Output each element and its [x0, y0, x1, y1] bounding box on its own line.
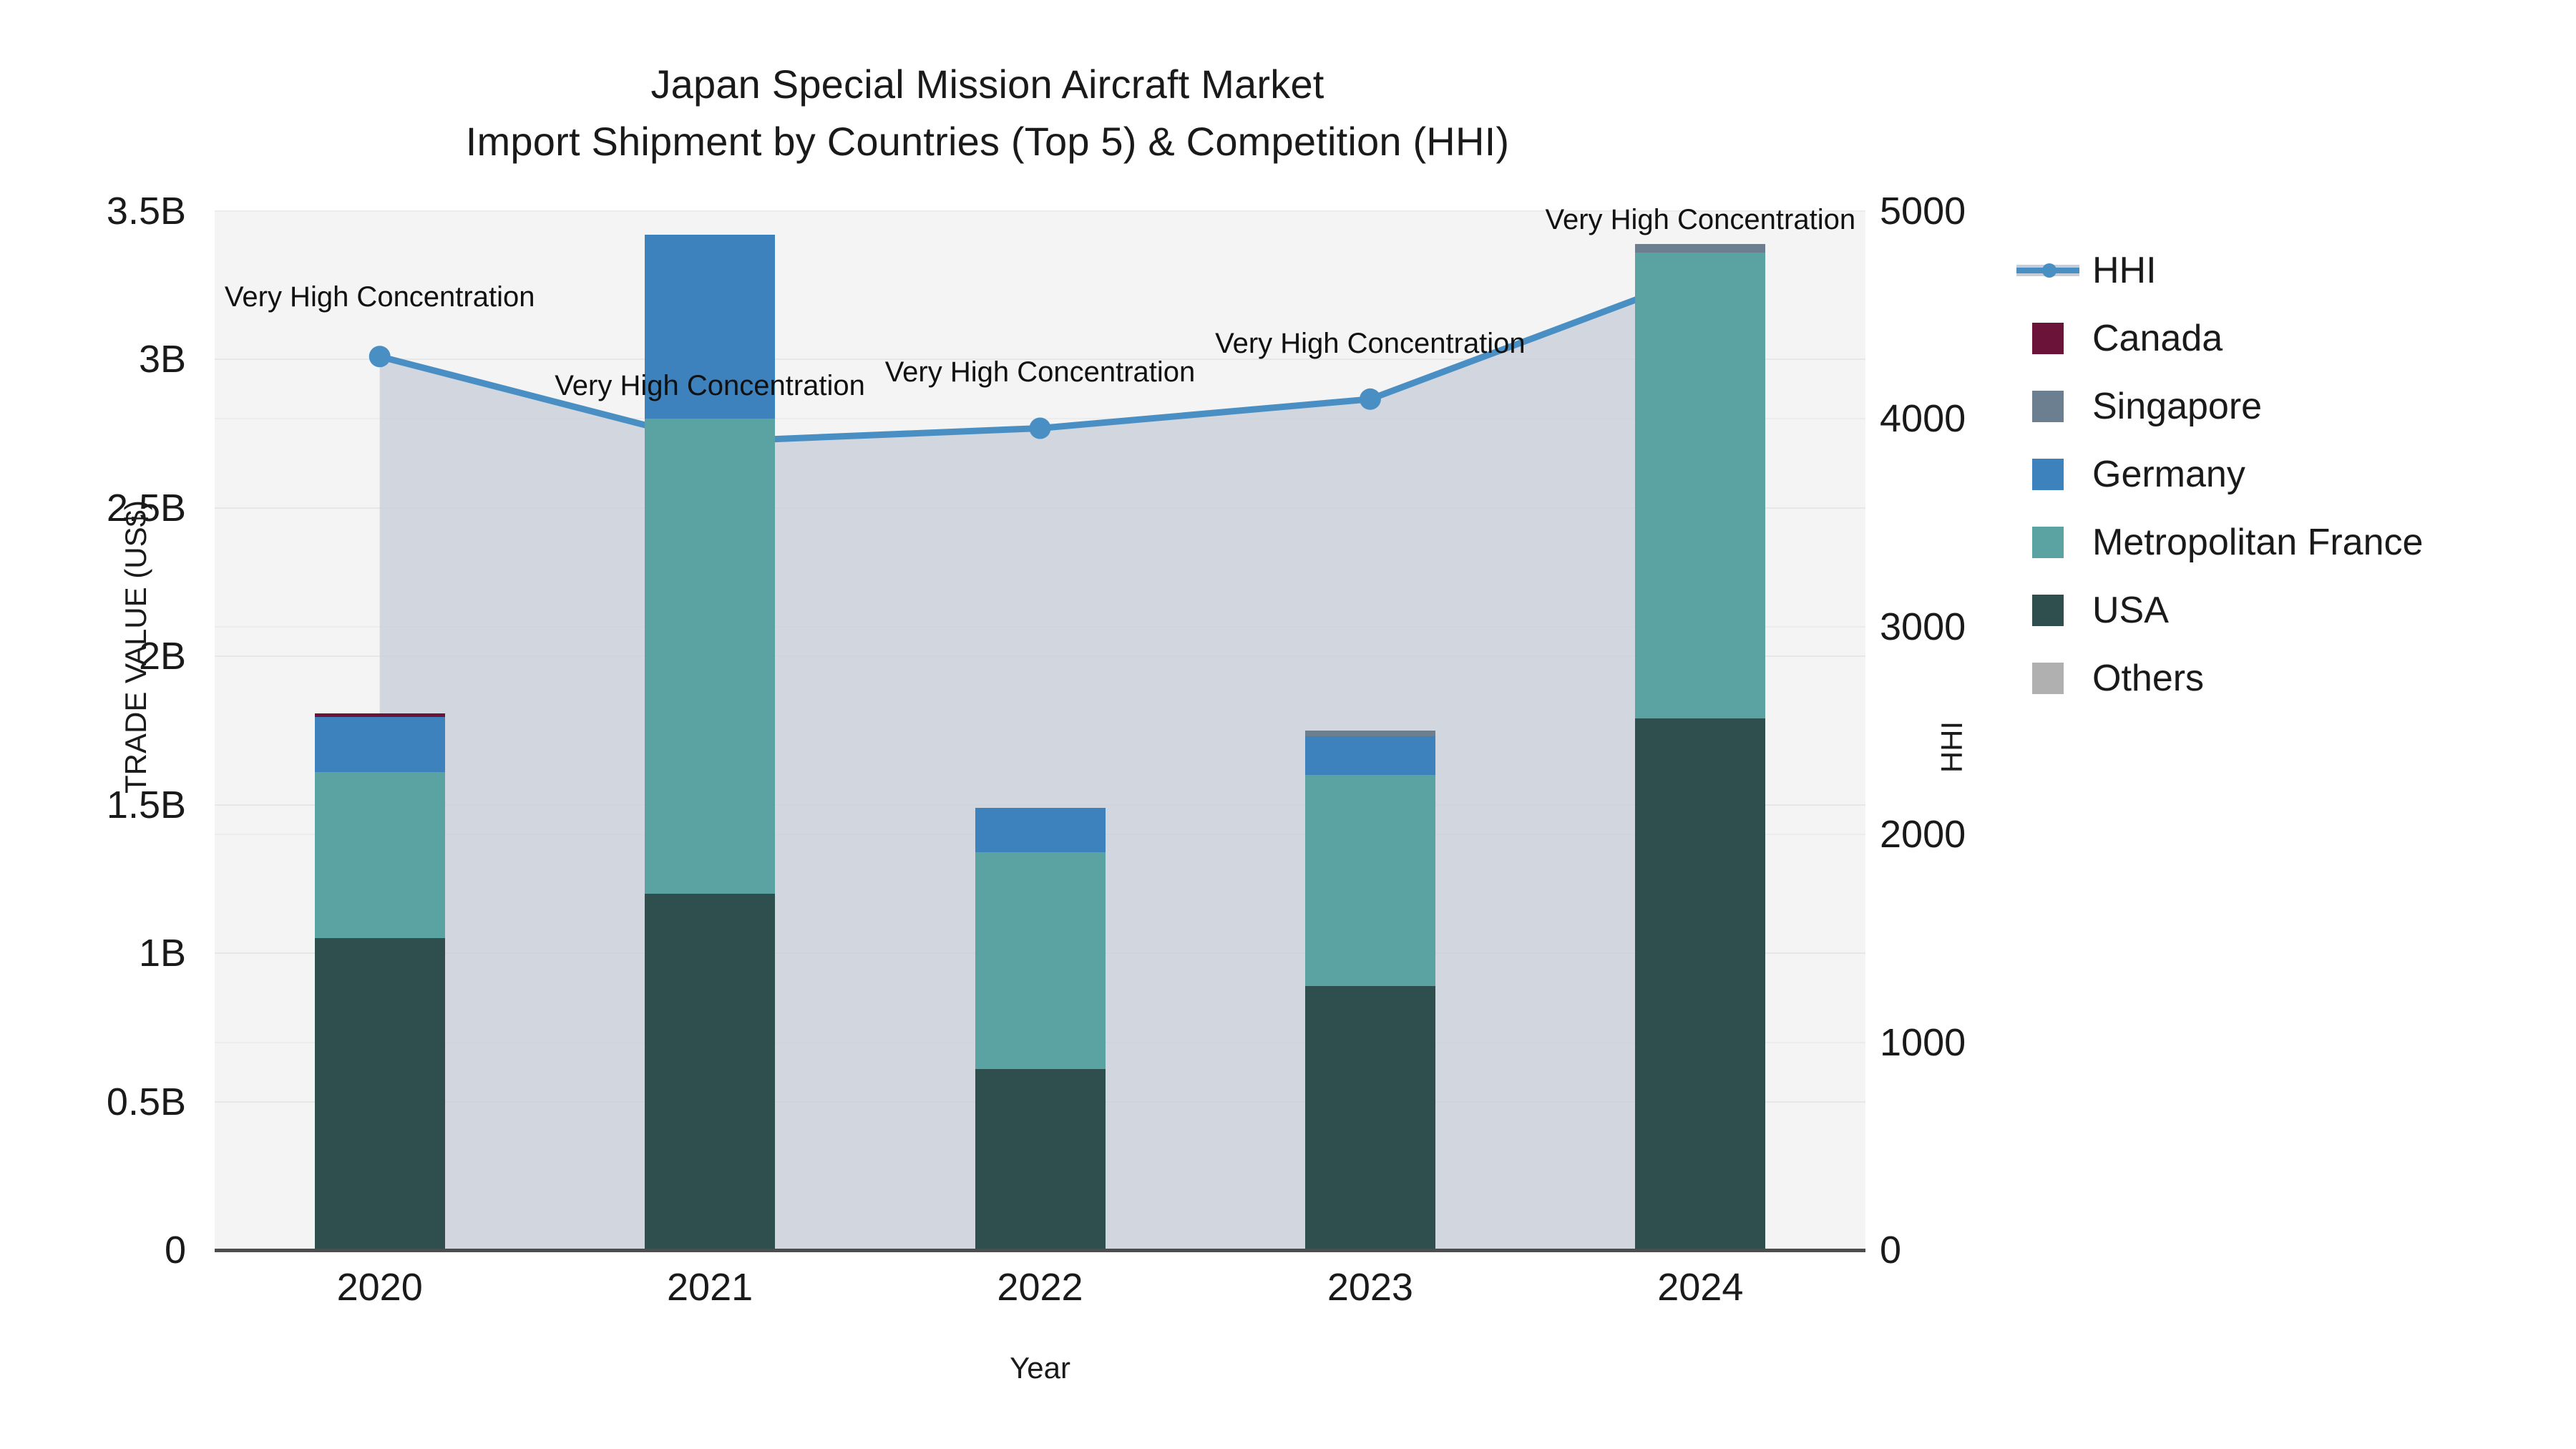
chart-title: Japan Special Mission Aircraft Market Im… [0, 56, 1975, 170]
x-axis-tick-2022: 2022 [997, 1265, 1083, 1309]
y-axis-left-tick: 2.5B [14, 486, 186, 530]
legend-label: HHI [2092, 249, 2157, 292]
y-axis-right-label: HHI [1935, 675, 1969, 819]
bar-group-2023[interactable] [1305, 211, 1435, 1250]
bar-segment-usa[interactable] [1305, 986, 1435, 1250]
y-axis-left-tick: 0 [14, 1228, 186, 1272]
x-axis-line [215, 1249, 1865, 1252]
legend-item-metropolitan-france[interactable]: Metropolitan France [2032, 508, 2423, 576]
bar-segment-metropolitan-france[interactable] [1635, 253, 1765, 718]
bar-segment-usa[interactable] [975, 1069, 1106, 1250]
bar-group-2021[interactable] [645, 211, 775, 1250]
bar-segment-usa[interactable] [645, 894, 775, 1250]
y-axis-left-tick: 0.5B [14, 1080, 186, 1124]
legend-label: Singapore [2092, 385, 2262, 428]
legend: HHICanadaSingaporeGermanyMetropolitan Fr… [2032, 236, 2423, 712]
bar-group-2020[interactable] [315, 211, 445, 1250]
bar-segment-metropolitan-france[interactable] [645, 419, 775, 894]
y-axis-left-tick: 1B [14, 931, 186, 975]
y-axis-right-tick: 4000 [1880, 396, 1966, 441]
y-axis-right-tick: 3000 [1880, 605, 1966, 649]
bar-segment-usa[interactable] [1635, 718, 1765, 1250]
bar-segment-germany[interactable] [1305, 736, 1435, 775]
legend-swatch [2032, 459, 2064, 490]
chart-title-line2: Import Shipment by Countries (Top 5) & C… [0, 113, 1975, 170]
legend-item-canada[interactable]: Canada [2032, 304, 2423, 372]
legend-item-others[interactable]: Others [2032, 644, 2423, 712]
annotation-2024: Very High Concentration [1546, 204, 1856, 236]
legend-swatch [2032, 527, 2064, 558]
bar-segment-singapore[interactable] [1635, 244, 1765, 253]
annotation-2022: Very High Concentration [885, 356, 1196, 389]
legend-item-singapore[interactable]: Singapore [2032, 372, 2423, 440]
legend-swatch [2032, 391, 2064, 422]
y-axis-right-tick: 0 [1880, 1228, 1901, 1272]
y-axis-left-tick: 2B [14, 634, 186, 678]
x-axis-tick-2023: 2023 [1327, 1265, 1413, 1309]
bar-segment-metropolitan-france[interactable] [975, 852, 1106, 1069]
legend-label: Others [2092, 657, 2204, 700]
y-axis-left-tick: 3B [14, 337, 186, 381]
legend-item-hhi[interactable]: HHI [2032, 236, 2423, 304]
bar-segment-metropolitan-france[interactable] [315, 772, 445, 938]
y-axis-right-tick: 1000 [1880, 1020, 1966, 1065]
hhi-line-icon [2032, 255, 2064, 286]
legend-swatch [2032, 323, 2064, 354]
bar-segment-usa[interactable] [315, 938, 445, 1250]
legend-label: Metropolitan France [2092, 521, 2423, 564]
annotation-2021: Very High Concentration [555, 370, 865, 402]
y-axis-left-label: TRADE VALUE (US$) [119, 461, 153, 833]
legend-label: Canada [2092, 317, 2223, 360]
legend-swatch [2032, 663, 2064, 694]
y-axis-left-tick: 1.5B [14, 783, 186, 827]
legend-label: USA [2092, 589, 2169, 632]
legend-label: Germany [2092, 453, 2245, 496]
x-axis-tick-2024: 2024 [1657, 1265, 1743, 1309]
x-axis-tick-2020: 2020 [337, 1265, 423, 1309]
y-axis-left-tick: 3.5B [14, 189, 186, 233]
bar-segment-metropolitan-france[interactable] [1305, 775, 1435, 986]
x-axis-tick-2021: 2021 [667, 1265, 753, 1309]
annotation-2020: Very High Concentration [225, 281, 535, 313]
legend-swatch [2032, 595, 2064, 626]
bar-group-2024[interactable] [1635, 211, 1765, 1250]
bar-segment-germany[interactable] [975, 808, 1106, 852]
legend-item-usa[interactable]: USA [2032, 576, 2423, 644]
y-axis-right-tick: 2000 [1880, 812, 1966, 857]
bar-segment-canada[interactable] [315, 713, 445, 717]
bar-segment-singapore[interactable] [1305, 731, 1435, 736]
x-axis-label: Year [215, 1351, 1865, 1385]
chart-root: Japan Special Mission Aircraft Market Im… [0, 0, 2576, 1449]
annotation-2023: Very High Concentration [1215, 328, 1526, 360]
y-axis-right-tick: 5000 [1880, 189, 1966, 233]
legend-item-germany[interactable]: Germany [2032, 440, 2423, 508]
bar-segment-germany[interactable] [315, 717, 445, 772]
chart-title-line1: Japan Special Mission Aircraft Market [0, 56, 1975, 113]
